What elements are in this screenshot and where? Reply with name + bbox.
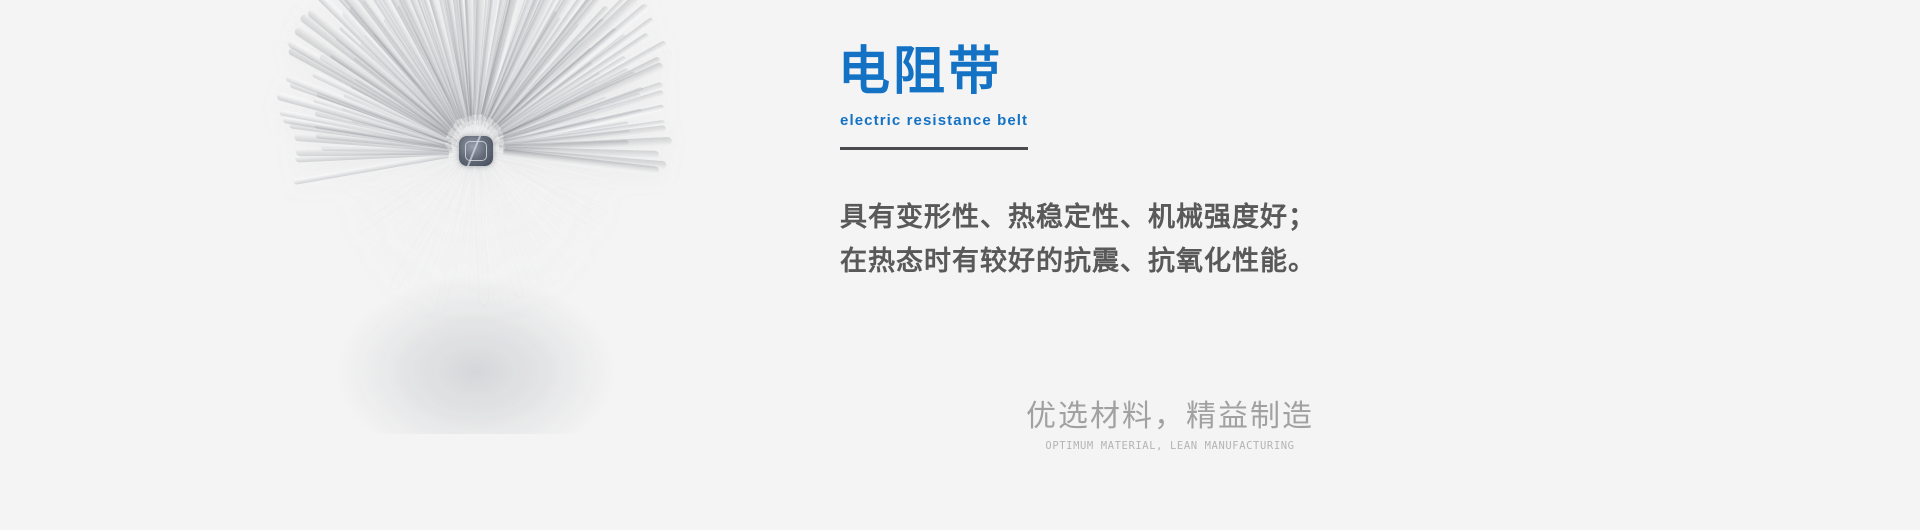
page-subtitle: electric resistance belt (840, 112, 1538, 129)
description-line-1: 具有变形性、热稳定性、机械强度好； (840, 196, 1538, 240)
banner-text-column: 电阻带 electric resistance belt 具有变形性、热稳定性、… (838, 44, 1538, 284)
title-divider (840, 147, 1028, 150)
slogan-watermark: 优选材料，精益制造 OPTIMUM MATERIAL, LEAN MANUFAC… (960, 398, 1380, 453)
description-line-2: 在热态时有较好的抗震、抗氧化性能。 (840, 240, 1538, 284)
page-title: 电阻带 (838, 44, 1538, 100)
resistance-belt-burst (296, 42, 656, 434)
slogan-cn: 优选材料，精益制造 (960, 398, 1380, 436)
product-description: 具有变形性、热稳定性、机械强度好； 在热态时有较好的抗震、抗氧化性能。 (840, 196, 1538, 284)
product-banner: 电阻带 electric resistance belt 具有变形性、热稳定性、… (0, 0, 1920, 530)
burst-hub (459, 136, 493, 166)
slogan-en: OPTIMUM MATERIAL, LEAN MANUFACTURING (960, 439, 1380, 453)
product-image (296, 42, 656, 434)
